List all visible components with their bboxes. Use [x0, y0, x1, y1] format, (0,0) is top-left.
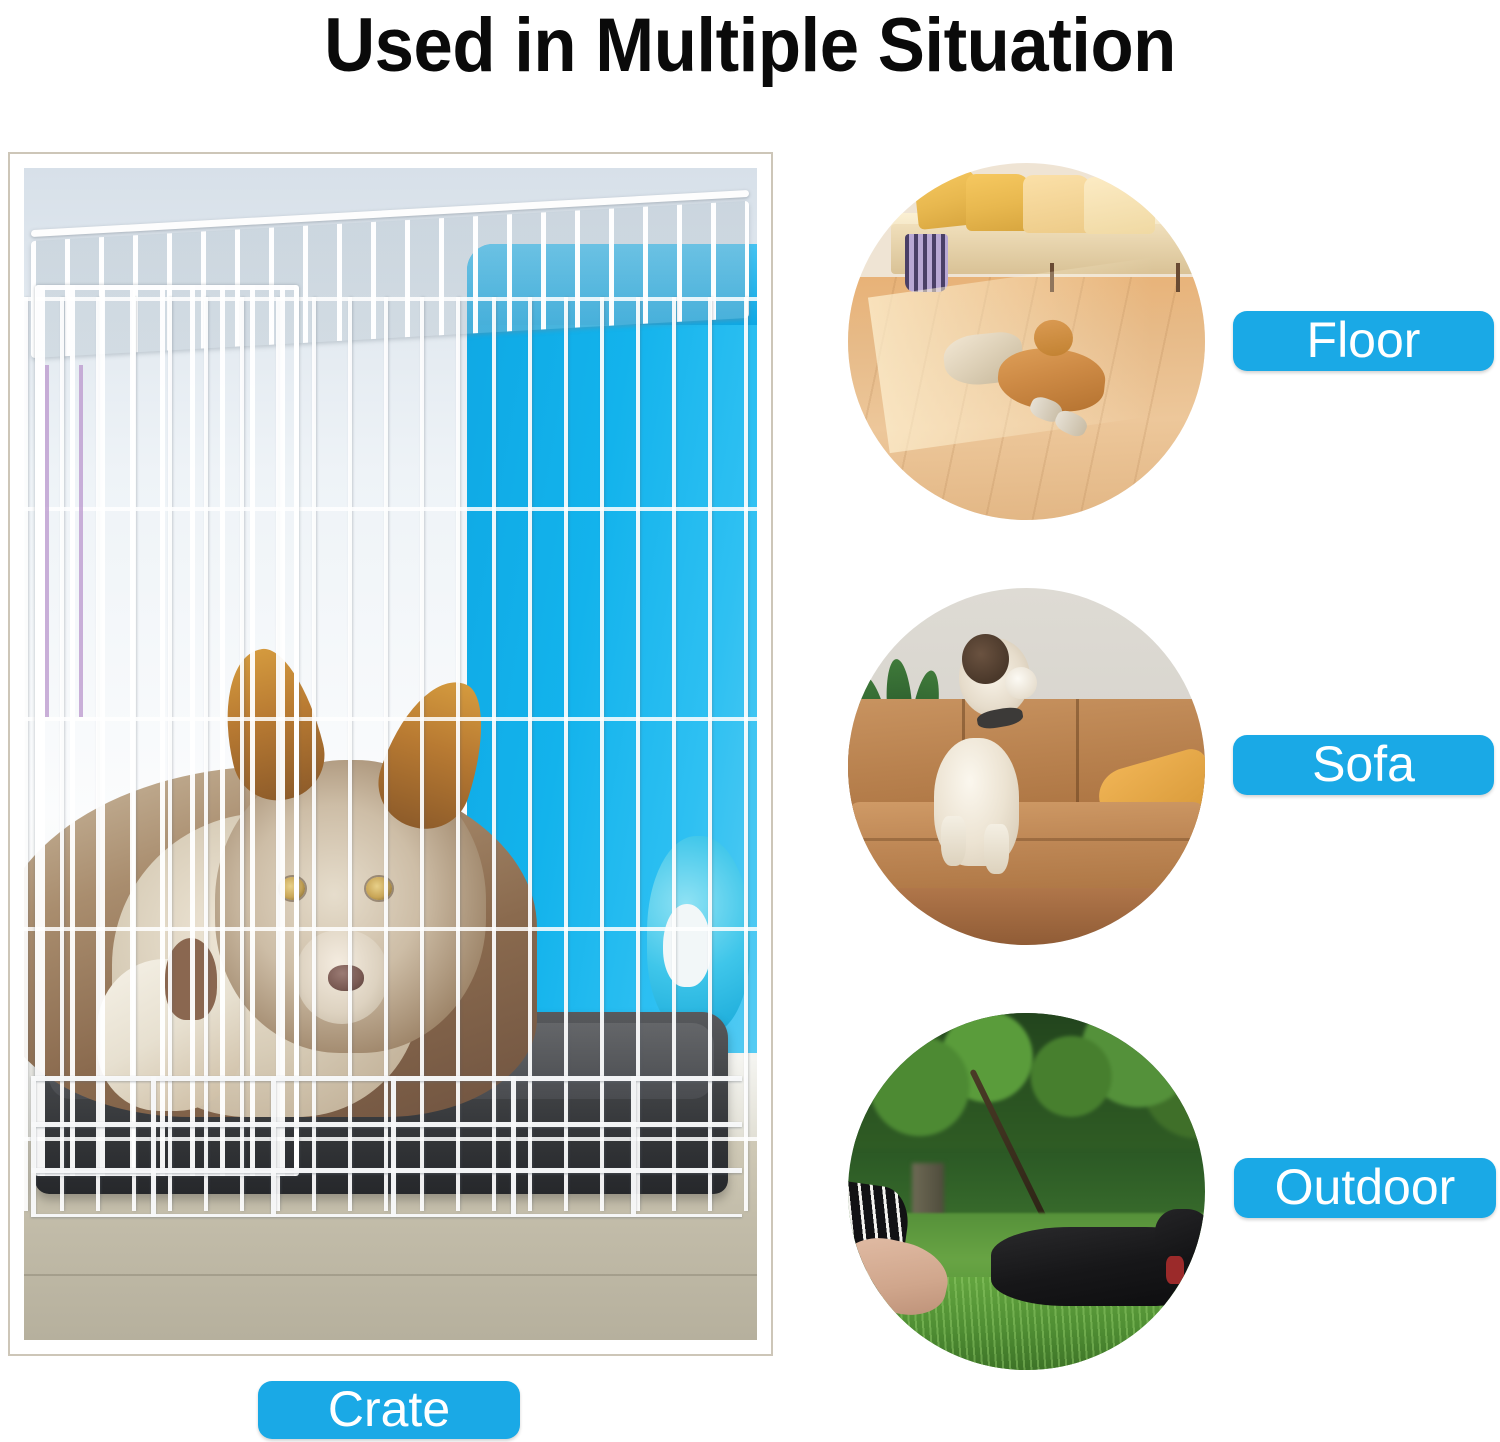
outdoor-scene-tree-canopy: [848, 1013, 1205, 1149]
sofa-scene-seat-fold: [848, 838, 1205, 841]
crate-door-accent-wires: [45, 365, 91, 717]
crate-floor-grout-line: [24, 1274, 757, 1276]
floor-scene-striped-vase: [905, 234, 948, 291]
crate-bottom-rails: [31, 1076, 742, 1217]
floor-scene-cushion-4: [1084, 177, 1155, 234]
label-floor: Floor: [1233, 311, 1494, 371]
scene-photo-outdoor: [848, 1013, 1205, 1370]
outdoor-scene-dog-collar: [1166, 1256, 1184, 1285]
sofa-scene-dog-leg: [984, 824, 1009, 874]
sofa-scene-dog-snout: [1005, 667, 1037, 699]
label-sofa: Sofa: [1233, 735, 1494, 795]
sofa-scene-dog-crown: [962, 634, 1008, 684]
crate-photo: [24, 168, 757, 1340]
scene-photo-floor: [848, 163, 1205, 520]
label-crate: Crate: [258, 1381, 520, 1439]
scene-photo-sofa: [848, 588, 1205, 945]
sofa-scene-dog-leg: [941, 816, 966, 866]
page-title: Used in Multiple Situation: [53, 0, 1448, 96]
crate-photo-frame: [8, 152, 773, 1356]
floor-scene-cushion-3: [1023, 175, 1091, 232]
floor-scene-cushion-2: [966, 174, 1030, 231]
sofa-scene-base: [848, 888, 1205, 945]
crate-door-panel: [35, 285, 299, 1176]
label-outdoor: Outdoor: [1234, 1158, 1496, 1218]
